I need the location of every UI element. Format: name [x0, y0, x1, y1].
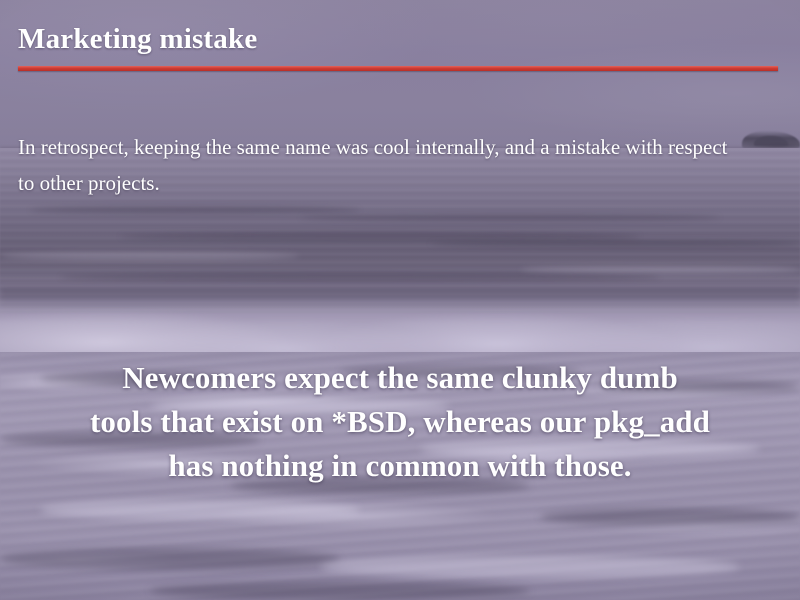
pull-quote: Newcomers expect the same clunky dumb to… [20, 356, 780, 488]
title-underline-rule [18, 66, 778, 71]
pull-quote-line: has nothing in common with those. [20, 444, 780, 488]
presentation-slide: Marketing mistake In retrospect, keeping… [0, 0, 800, 600]
body-paragraph: In retrospect, keeping the same name was… [18, 129, 748, 201]
slide-content: Marketing mistake In retrospect, keeping… [0, 0, 800, 600]
pull-quote-line: Newcomers expect the same clunky dumb [20, 356, 780, 400]
pull-quote-line: tools that exist on *BSD, whereas our pk… [20, 400, 780, 444]
page-title: Marketing mistake [18, 23, 257, 56]
